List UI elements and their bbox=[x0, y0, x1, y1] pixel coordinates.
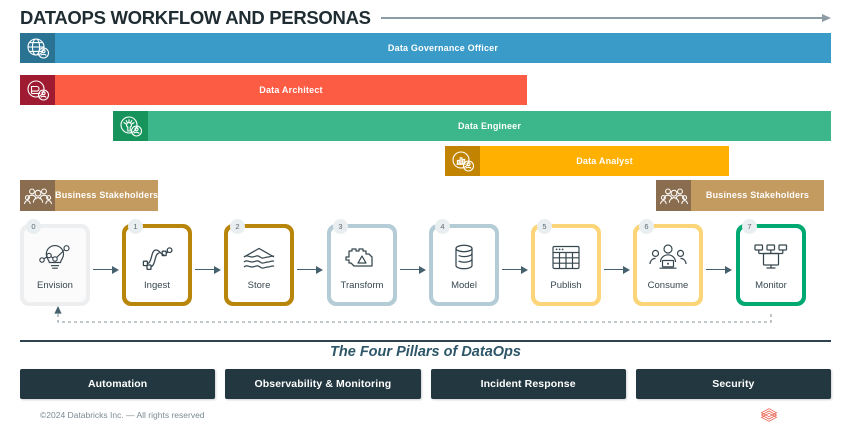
globe-user-icon bbox=[20, 33, 55, 63]
arrow-right-icon bbox=[604, 265, 630, 274]
pillar-observability-monitoring[interactable]: Observability & Monitoring bbox=[225, 369, 420, 399]
persona-bar-data-governance-officer: Data Governance Officer bbox=[20, 33, 831, 63]
arrow-right-icon bbox=[502, 265, 528, 274]
people-group-icon bbox=[20, 180, 55, 211]
page-title: DATAOPS WORKFLOW AND PERSONAS bbox=[20, 7, 371, 29]
pipeline-step-publish[interactable]: 5 Publish bbox=[531, 224, 601, 306]
step-label: Consume bbox=[648, 280, 689, 291]
persona-bar-body: Data Governance Officer bbox=[55, 33, 831, 63]
step-label: Transform bbox=[341, 280, 384, 291]
arrow-right-icon bbox=[706, 265, 732, 274]
pipeline-step-consume[interactable]: 6 Consume bbox=[633, 224, 703, 306]
database-cylinder-icon bbox=[447, 238, 481, 276]
pipeline-step-ingest[interactable]: 1 Ingest bbox=[122, 224, 192, 306]
pipeline-step-store[interactable]: 2 Store bbox=[224, 224, 294, 306]
data-lake-layers-icon bbox=[238, 238, 280, 276]
arrow-right-icon bbox=[195, 265, 221, 274]
data-pipe-connector-icon bbox=[137, 238, 177, 276]
people-group-icon bbox=[656, 180, 691, 211]
pillars-title: The Four Pillars of DataOps bbox=[0, 344, 851, 360]
gear-wrench-user-icon bbox=[113, 111, 148, 141]
persona-label: Data Governance Officer bbox=[388, 43, 498, 53]
step-label: Store bbox=[248, 280, 271, 291]
monitor-dashboard-icon bbox=[750, 238, 792, 276]
pipeline-row: 0 Envision 1 bbox=[0, 218, 851, 314]
step-label: Publish bbox=[550, 280, 581, 291]
step-label: Monitor bbox=[755, 280, 787, 291]
step-number: 2 bbox=[230, 219, 245, 234]
pillars-row: Automation Observability & Monitoring In… bbox=[20, 369, 831, 399]
step-number: 0 bbox=[26, 219, 41, 234]
databricks-logo-icon bbox=[760, 408, 778, 422]
pipeline-step-transform[interactable]: 3 Transform bbox=[327, 224, 397, 306]
bar-chart-user-icon bbox=[445, 146, 480, 176]
page-title-row: DATAOPS WORKFLOW AND PERSONAS bbox=[20, 6, 831, 30]
table-grid-icon bbox=[546, 238, 586, 276]
persona-bar-body: Data Engineer bbox=[148, 111, 831, 141]
slide-canvas: DATAOPS WORKFLOW AND PERSONAS Data Gover… bbox=[0, 0, 851, 427]
step-number: 5 bbox=[537, 219, 552, 234]
step-label: Envision bbox=[37, 280, 73, 291]
persona-label: Business Stakeholders bbox=[55, 190, 158, 200]
arrow-right-icon bbox=[297, 265, 323, 274]
persona-bar-data-engineer: Data Engineer bbox=[113, 111, 831, 141]
persona-bar-body: Data Analyst bbox=[480, 146, 729, 176]
step-label: Ingest bbox=[144, 280, 170, 291]
step-number: 1 bbox=[128, 219, 143, 234]
persona-label: Business Stakeholders bbox=[706, 190, 809, 200]
persona-bar-data-architect: Data Architect bbox=[20, 75, 527, 105]
pillar-incident-response[interactable]: Incident Response bbox=[431, 369, 626, 399]
persona-label: Data Architect bbox=[259, 85, 322, 95]
step-number: 3 bbox=[333, 219, 348, 234]
pipeline-step-envision[interactable]: 0 Envision bbox=[20, 224, 90, 306]
persona-label: Data Engineer bbox=[458, 121, 521, 131]
persona-bar-body: Data Architect bbox=[55, 75, 527, 105]
architecture-user-icon bbox=[20, 75, 55, 105]
persona-label: Data Analyst bbox=[576, 156, 633, 166]
pipeline-step-monitor[interactable]: 7 Monitor bbox=[736, 224, 806, 306]
arrow-right-icon bbox=[93, 265, 119, 274]
pipeline-step-model[interactable]: 4 Model bbox=[429, 224, 499, 306]
step-number: 7 bbox=[742, 219, 757, 234]
people-laptop-icon bbox=[646, 238, 690, 276]
step-number: 4 bbox=[435, 219, 450, 234]
persona-bar-data-analyst: Data Analyst bbox=[445, 146, 729, 176]
engine-gear-icon bbox=[341, 238, 383, 276]
persona-bar-body: Business Stakeholders bbox=[55, 180, 158, 211]
arrow-right-icon bbox=[400, 265, 426, 274]
persona-bar-business-stakeholders-right: Business Stakeholders bbox=[656, 180, 824, 211]
section-divider bbox=[20, 340, 831, 342]
copyright-text: ©2024 Databricks Inc. — All rights reser… bbox=[40, 410, 205, 420]
step-label: Model bbox=[451, 280, 477, 291]
title-right-arrow-icon bbox=[381, 13, 831, 23]
pillar-automation[interactable]: Automation bbox=[20, 369, 215, 399]
pillar-security[interactable]: Security bbox=[636, 369, 831, 399]
lightbulb-network-icon bbox=[35, 238, 75, 276]
step-number: 6 bbox=[639, 219, 654, 234]
persona-bar-business-stakeholders-left: Business Stakeholders bbox=[20, 180, 135, 211]
persona-bar-body: Business Stakeholders bbox=[691, 180, 824, 211]
